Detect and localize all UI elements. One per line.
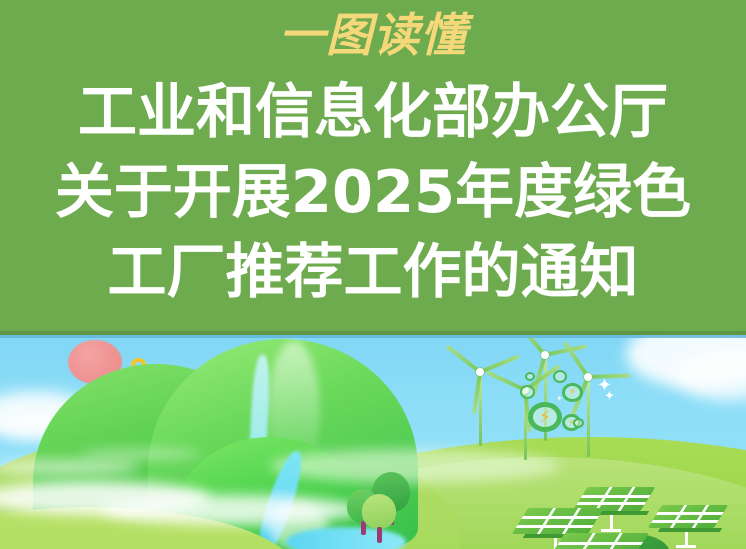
energy-bubble-icon: ⚡ [562,383,583,402]
river-pool [286,527,406,549]
mist [80,449,200,459]
page-title: 工业和信息化部办公厅 关于开展2025年度绿色 工厂推荐工作的通知 [0,72,746,312]
turbine-hub [584,373,592,381]
infographic-poster: ⚡ ⚡ ⚡ ✦ ✦ ✦ [0,0,746,549]
energy-bubble-icon: ⚡ [528,402,562,432]
title-line-2: 关于开展2025年度绿色 [0,152,746,232]
meadow-haze [270,449,560,483]
tree-crown [362,494,396,529]
panel-gridline [617,487,635,511]
title-line-1: 工业和信息化部办公厅 [0,72,746,152]
panel-gridline [656,512,724,515]
energy-bubble-icon [520,385,535,399]
panel-gridline [557,542,643,545]
panel-gridline [691,505,708,528]
lightning-bolt-icon: ⚡ [569,388,576,398]
panel-gridline [576,502,646,505]
panel-foot [676,545,696,548]
sparkle-icon: ✦ [556,395,563,403]
panel-foot [601,529,621,532]
panel-gridline [670,505,687,528]
illustration-scene [0,331,746,549]
panel-gridline [562,508,581,534]
lightning-bolt-icon: ⚡ [539,409,551,426]
panel-stand [610,515,613,530]
mist [100,495,360,525]
panel-gridline [537,508,556,534]
header-panel: 一图读懂 工业和信息化部办公厅 关于开展2025年度绿色 工厂推荐工作的通知 [0,0,746,331]
panel-side [658,528,722,532]
panel-gridline [521,516,599,519]
energy-bubble-icon [525,372,535,381]
turbine-hub [476,368,484,376]
panel-face [547,533,648,549]
panel-stand [685,532,688,546]
title-line-3: 工厂推荐工作的通知 [0,232,746,312]
panel-gridline [651,520,719,523]
turbine-mast [587,377,590,457]
tree-trunk [377,527,382,543]
sparkle-icon: ✦ [604,389,615,402]
header-bottom-edge-accent [0,335,746,338]
turbine-hub [541,351,549,359]
kicker-label: 一图读懂 [0,6,746,64]
panel-face [512,508,604,534]
panel-gridline [516,525,594,528]
energy-bubble-icon [573,418,584,428]
energy-bubble-icon [553,370,567,383]
panel-gridline [581,495,651,498]
